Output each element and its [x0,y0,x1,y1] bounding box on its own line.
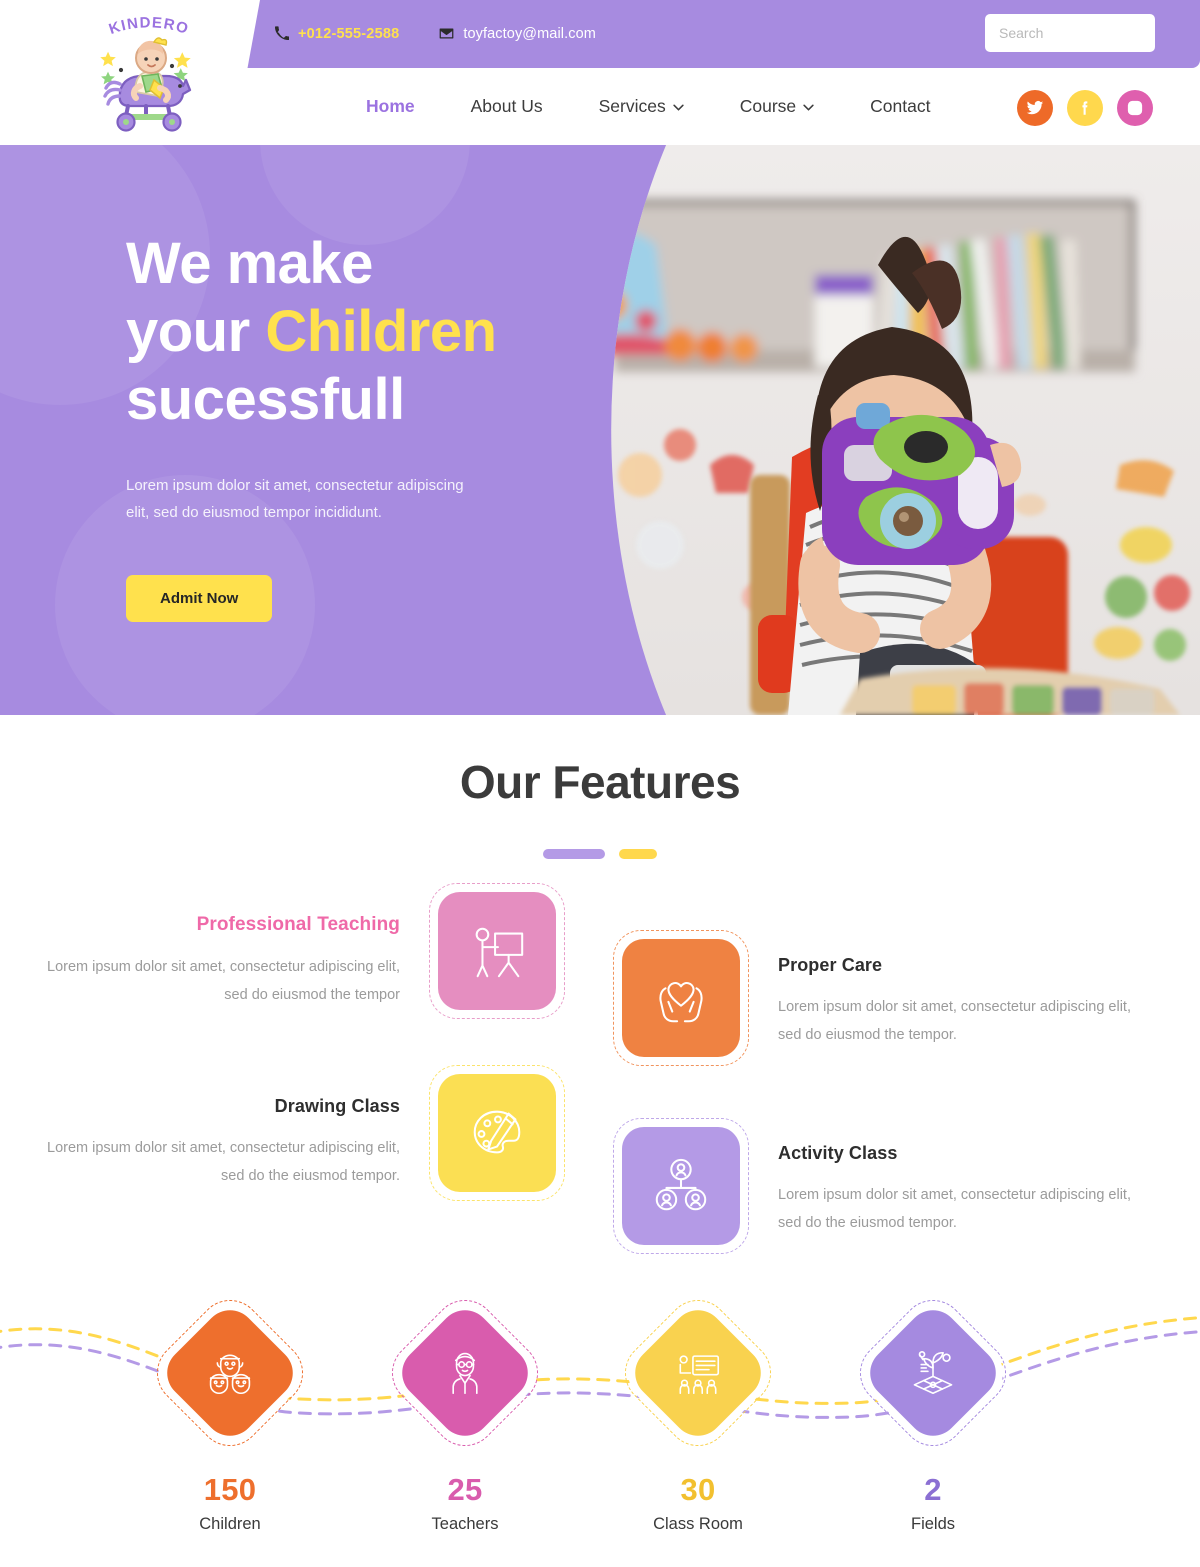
features-title: Our Features [0,755,1200,809]
stat-value: 25 [447,1472,482,1508]
nav-item-course[interactable]: Course [712,96,842,117]
playground-field-icon [859,1299,1006,1446]
teacher-person-icon [391,1299,538,1446]
stat-label: Children [199,1515,260,1534]
search-input[interactable] [985,14,1155,52]
stat-class-room: 30 Class Room [583,1321,813,1534]
teacher-whiteboard-icon [438,892,556,1010]
divider-bar-purple [543,849,605,859]
hero-title-line-3: sucessfull [126,367,405,432]
feature-activity-class[interactable]: Activity Class Lorem ipsum dolor sit ame… [622,1127,1138,1245]
social-links [1017,90,1153,126]
feature-title: Professional Teaching [45,914,400,936]
three-kids-icon [156,1299,303,1446]
stat-label: Fields [911,1515,955,1534]
feature-title: Proper Care [778,955,1138,976]
twitter-icon[interactable] [1017,90,1053,126]
divider-bar-yellow [619,849,657,859]
feature-professional-teaching[interactable]: Professional Teaching Lorem ipsum dolor … [45,892,556,1010]
chevron-down-icon [803,102,814,114]
stat-label: Class Room [653,1515,743,1534]
feature-title: Activity Class [778,1143,1138,1164]
nav-item-about-us[interactable]: About Us [443,96,571,117]
classroom-child-photo [560,145,1200,715]
facebook-icon[interactable] [1067,90,1103,126]
top-contact-bar: +012-555-2588 toyfactoy@mail.com [195,0,1200,68]
admit-now-button[interactable]: Admit Now [126,575,272,622]
hero-title: We make your Children sucessfull [126,230,586,434]
feature-description: Lorem ipsum dolor sit amet, consectetur … [45,1135,400,1190]
nav-item-home[interactable]: Home [338,96,443,117]
hero-section: We make your Children sucessfull Lorem i… [0,145,1200,715]
feature-proper-care[interactable]: Proper Care Lorem ipsum dolor sit amet, … [622,939,1138,1057]
stat-fields: 2 Fields [818,1321,1048,1534]
nav-label: Course [740,96,796,117]
hero-title-line-2-plain: your [126,299,265,364]
stat-value: 150 [204,1472,257,1508]
nav-label: Contact [870,96,930,117]
hero-content: We make your Children sucessfull Lorem i… [126,230,586,622]
hero-photo [560,145,1200,715]
nav-item-services[interactable]: Services [571,96,712,117]
nav-label: Home [366,96,415,117]
hero-title-line-1: We make [126,231,373,296]
search-box[interactable] [985,14,1155,52]
feature-description: Lorem ipsum dolor sit amet, consectetur … [45,954,400,1009]
nav-label: About Us [471,96,543,117]
chevron-down-icon [673,102,684,114]
features-section: Our Features Professional Teaching Lorem… [0,715,1200,1307]
logo[interactable]: KINDERO [38,0,260,145]
hero-title-highlight: Children [265,299,496,364]
section-divider [0,849,1200,859]
feature-description: Lorem ipsum dolor sit amet, consectetur … [778,1182,1138,1237]
hands-holding-heart-icon [622,939,740,1057]
stat-children: 150 Children [115,1321,345,1534]
stat-value: 30 [680,1472,715,1508]
people-group-icon [622,1127,740,1245]
hero-image-area [560,145,1200,715]
feature-drawing-class[interactable]: Drawing Class Lorem ipsum dolor sit amet… [45,1074,556,1192]
classroom-board-icon [624,1299,771,1446]
email-address: toyfactoy@mail.com [463,26,596,42]
stat-value: 2 [924,1472,942,1508]
features-grid: Professional Teaching Lorem ipsum dolor … [0,887,1200,1307]
feature-description: Lorem ipsum dolor sit amet, consectetur … [778,994,1138,1049]
email-contact[interactable]: toyfactoy@mail.com [439,26,596,43]
instagram-icon[interactable] [1117,90,1153,126]
nav-item-contact[interactable]: Contact [842,96,958,117]
stat-teachers: 25 Teachers [350,1321,580,1534]
logo-illustration [84,14,214,132]
phone-contact[interactable]: +012-555-2588 [275,26,399,42]
feature-title: Drawing Class [45,1096,400,1117]
stat-label: Teachers [432,1515,499,1534]
phone-icon [275,26,289,42]
site-header: +012-555-2588 toyfactoy@mail.com [0,0,1200,145]
paint-palette-brush-icon [438,1074,556,1192]
hero-subtitle: Lorem ipsum dolor sit amet, consectetur … [126,472,476,528]
nav-label: Services [599,96,666,117]
stats-section: 150 Children 25 Teachers [0,1307,1200,1567]
baby-on-rocking-horse-logo: KINDERO [84,14,214,132]
main-navigation: Home About Us Services Course Contact [260,68,1200,145]
phone-number: +012-555-2588 [298,26,399,42]
envelope-icon [439,26,454,43]
